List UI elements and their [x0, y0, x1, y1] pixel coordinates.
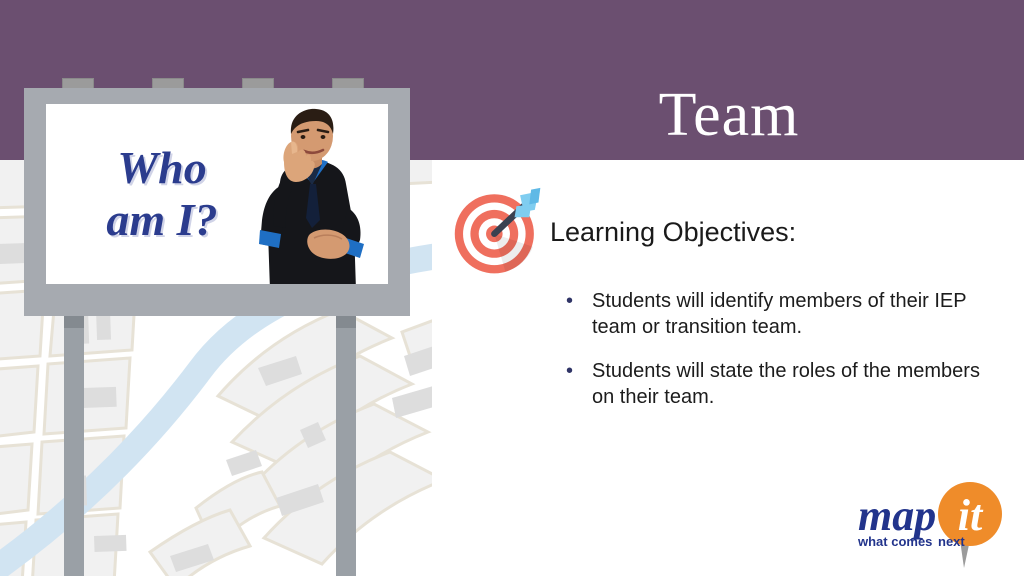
map-it-logo-graphic: it map what comes next: [852, 478, 1012, 570]
objectives-bullet-list: • Students will identify members of thei…: [566, 288, 986, 428]
learning-objectives-row: Learning Objectives:: [452, 186, 796, 278]
list-item-text: Students will state the roles of the mem…: [592, 358, 986, 410]
billboard-headline: Who am I?: [72, 142, 252, 246]
logo-tagline-part1: what comes: [857, 534, 932, 549]
bullet-marker-icon: •: [566, 358, 592, 384]
billboard-face: Who am I?: [46, 104, 388, 284]
billboard-headline-line1: Who: [117, 142, 206, 193]
logo-tagline-part2: next: [938, 534, 965, 549]
list-item: • Students will identify members of thei…: [566, 288, 986, 340]
billboard-headline-line2: am I?: [106, 194, 217, 245]
map-it-logo: it map what comes next: [852, 478, 1012, 570]
billboard-post-right: [336, 310, 356, 576]
target-dart-icon: [452, 186, 544, 278]
man-signing-figure: [236, 108, 388, 284]
list-item-text: Students will identify members of their …: [592, 288, 986, 340]
bullet-marker-icon: •: [566, 288, 592, 314]
learning-objectives-heading: Learning Objectives:: [550, 217, 796, 248]
page-title: Team: [434, 84, 1024, 146]
logo-word-it: it: [958, 491, 984, 540]
slide-canvas: Team: [0, 0, 1024, 576]
billboard-post-left: [64, 310, 84, 576]
billboard: Who am I?: [24, 88, 410, 316]
logo-word-map: map: [858, 491, 936, 540]
list-item: • Students will state the roles of the m…: [566, 358, 986, 410]
